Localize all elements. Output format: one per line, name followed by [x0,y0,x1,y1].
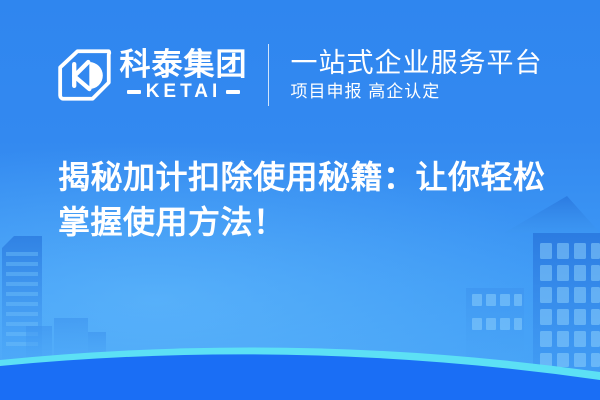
logo-rule-right-icon [226,90,240,94]
tagline-sub: 项目申报 高企认定 [291,83,543,101]
brand-tagline: 一站式企业服务平台 项目申报 高企认定 [269,49,543,100]
ketai-diamond-kd-logo-icon [58,48,112,102]
logo-en-name: KETAI [146,82,222,101]
banner-header: 科泰集团 KETAI 一站式企业服务平台 项目申报 高企认定 [0,0,600,150]
brand-logo[interactable]: 科泰集团 KETAI [58,48,268,102]
tagline-main: 一站式企业服务平台 [291,49,543,77]
promo-banner: 科泰集团 KETAI 一站式企业服务平台 项目申报 高企认定 揭秘加计扣除使用秘… [0,0,600,400]
page-title: 揭秘加计扣除使用秘籍：让你轻松掌握使用方法！ [58,155,563,246]
logo-rule-left-icon [127,90,141,94]
logo-cn-name: 科泰集团 [120,49,248,80]
